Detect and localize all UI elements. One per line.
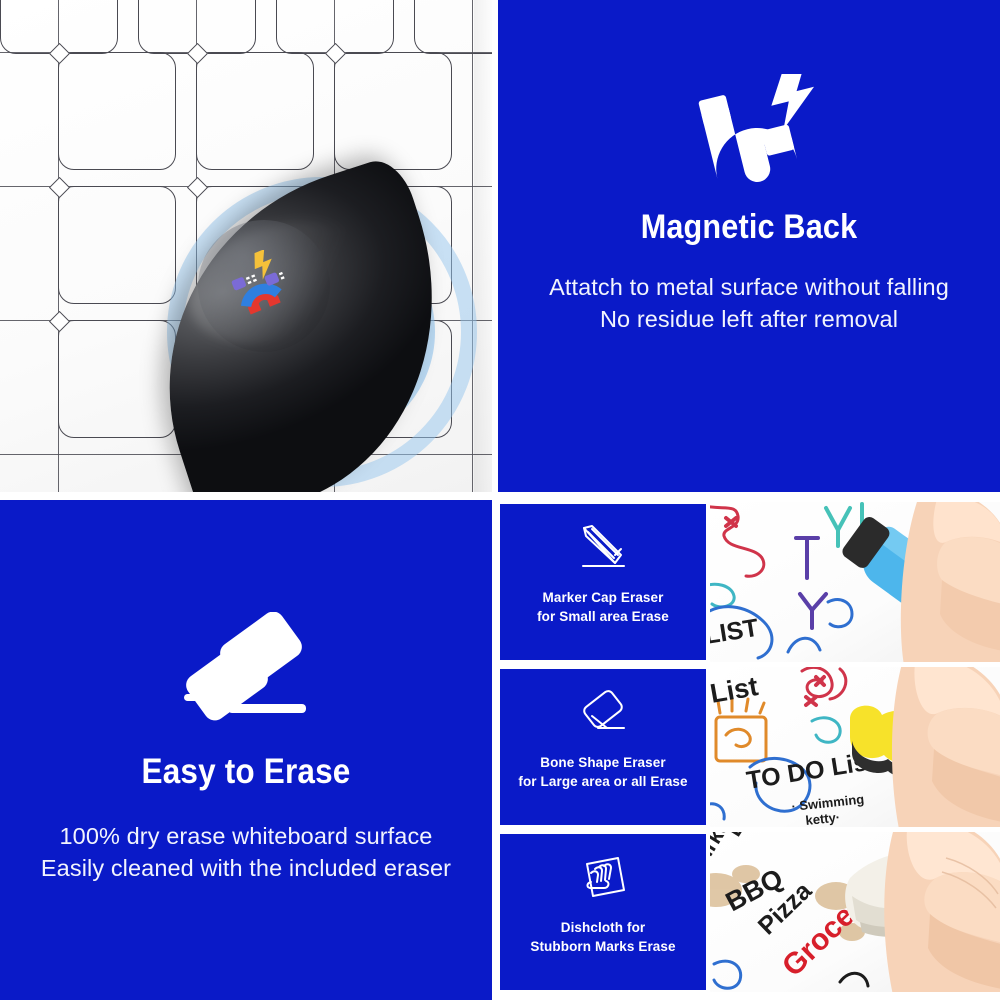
divider-vertical-bottom <box>492 500 498 1000</box>
card-label-line-2: for Small area Erase <box>537 609 669 624</box>
magnet-bolt-icon <box>674 74 824 192</box>
card-label-line-2: for Large area or all Erase <box>518 774 687 789</box>
divider-vertical-top <box>492 0 498 500</box>
subtitle-line-1: Attatch to metal surface without falling <box>549 274 949 300</box>
subtitle-line-1: 100% dry erase whiteboard surface <box>60 823 433 849</box>
easy-to-erase-panel: Easy to Erase 100% dry erase whiteboard … <box>0 500 492 1000</box>
card-label-line-1: Bone Shape Eraser <box>540 755 666 770</box>
yellow-bone-eraser-and-hand <box>710 667 1000 827</box>
eraser-icon <box>172 612 320 730</box>
divider-horizontal <box>0 492 1000 500</box>
divider-photo-gap-2 <box>708 827 1000 832</box>
dishcloth-and-hand <box>710 832 1000 992</box>
card-label-line-2: Stubborn Marks Erase <box>530 939 675 954</box>
erase-method-card-dishcloth: Dishcloth for Stubborn Marks Erase <box>498 832 708 992</box>
blue-marker-eraser-and-hand <box>710 502 1000 662</box>
product-infographic-poster: Magnetic Back Attatch to metal surface w… <box>0 0 1000 1000</box>
subtitle-line-2: Easily cleaned with the included eraser <box>41 855 451 881</box>
card-label: Bone Shape Eraser for Large area or all … <box>500 753 706 791</box>
panel-subtitle: Attatch to metal surface without falling… <box>498 271 1000 336</box>
card-label-line-1: Marker Cap Eraser <box>542 590 663 605</box>
eraser-outline-icon <box>574 687 632 739</box>
photo-marker-cap-eraser: LIST <box>710 502 1000 662</box>
photo-bone-shape-eraser: List TO DO Lis · Swimming ketty· <box>710 667 1000 827</box>
panel-subtitle: 100% dry erase whiteboard surface Easily… <box>0 820 492 885</box>
card-label: Marker Cap Eraser for Small area Erase <box>500 588 706 626</box>
card-label-line-1: Dishcloth for <box>561 920 646 935</box>
erase-method-card-marker-cap: Marker Cap Eraser for Small area Erase <box>498 502 708 662</box>
divider-vertical-middle <box>708 500 710 1000</box>
photo-dishcloth: Turkey BBQ Pizza E Grocer <box>710 832 1000 992</box>
divider-photo-gap-1 <box>708 662 1000 667</box>
dishcloth-icon <box>574 852 632 904</box>
panel-title: Easy to Erase <box>25 752 468 792</box>
calendar-grid <box>0 0 492 492</box>
card-label: Dishcloth for Stubborn Marks Erase <box>500 918 706 956</box>
board-edge-shadow <box>474 0 492 492</box>
whiteboard-product-photo <box>0 0 492 492</box>
subtitle-line-2: No residue left after removal <box>600 306 898 332</box>
pencil-icon <box>574 522 632 574</box>
panel-title: Magnetic Back <box>523 208 975 247</box>
erase-method-card-bone-eraser: Bone Shape Eraser for Large area or all … <box>498 667 708 827</box>
magnetic-back-panel: Magnetic Back Attatch to metal surface w… <box>498 0 1000 492</box>
